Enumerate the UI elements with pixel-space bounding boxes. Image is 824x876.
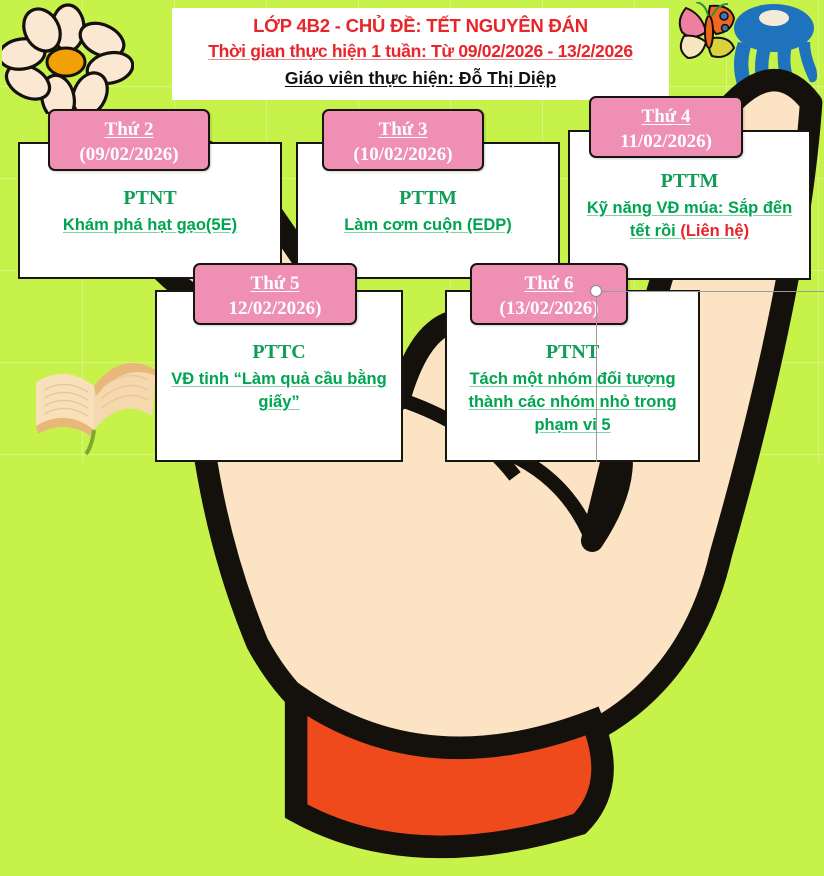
alignment-guide-horizontal (596, 291, 824, 292)
badge-day-name: Thứ 4 (591, 104, 741, 129)
day-badge-wednesday[interactable]: Thứ 4 11/02/2026) (589, 96, 743, 158)
card-detail: Làm cơm cuộn (EDP) (298, 210, 558, 237)
card-subject: PTNT (447, 340, 698, 364)
jellyfish-icon (726, 2, 822, 102)
badge-day-date: (09/02/2026) (50, 142, 208, 167)
daisy-flower-icon (2, 2, 134, 114)
day-badge-friday[interactable]: Thứ 6 (13/02/2026) (470, 263, 628, 325)
slide-title-duration: Thời gian thực hiện 1 tuần: Từ 09/02/202… (172, 39, 669, 64)
badge-day-name: Thứ 5 (195, 271, 355, 296)
card-detail-highlight: (Liên hệ) (680, 222, 749, 240)
badge-day-name: Thứ 2 (50, 117, 208, 142)
selection-drag-handle[interactable] (590, 285, 602, 297)
day-badge-tuesday[interactable]: Thứ 3 (10/02/2026) (322, 109, 484, 171)
butterfly-icon (672, 2, 744, 68)
day-badge-monday[interactable]: Thứ 2 (09/02/2026) (48, 109, 210, 171)
card-subject: PTTM (570, 169, 809, 193)
card-detail: VĐ tinh “Làm quả cầu bằng giấy” (157, 364, 401, 414)
badge-day-name: Thứ 6 (472, 271, 626, 296)
badge-day-date: 11/02/2026) (591, 129, 741, 154)
card-detail: Tách một nhóm đối tượng thành các nhóm n… (447, 364, 698, 437)
card-subject: PTTM (298, 186, 558, 210)
slide-title-main: LỚP 4B2 - CHỦ ĐỀ: TẾT NGUYÊN ĐÁN (172, 13, 669, 39)
card-subject: PTTC (157, 340, 401, 364)
badge-day-date: (10/02/2026) (324, 142, 482, 167)
day-badge-thursday[interactable]: Thứ 5 12/02/2026) (193, 263, 357, 325)
badge-day-name: Thứ 3 (324, 117, 482, 142)
card-subject: PTNT (20, 186, 280, 210)
badge-day-date: 12/02/2026) (195, 296, 355, 321)
card-detail: Kỹ năng VĐ múa: Sắp đến tết rồi (Liên hệ… (570, 193, 809, 243)
alignment-guide-vertical (596, 291, 597, 462)
slide-title-teacher: Giáo viên thực hiện: Đỗ Thị Diệp (172, 64, 669, 92)
open-book-icon (30, 330, 166, 456)
card-detail: Khám phá hạt gạo(5E) (20, 210, 280, 237)
badge-day-date: (13/02/2026) (472, 296, 626, 321)
title-banner[interactable]: LỚP 4B2 - CHỦ ĐỀ: TẾT NGUYÊN ĐÁN Thời gi… (172, 8, 669, 100)
